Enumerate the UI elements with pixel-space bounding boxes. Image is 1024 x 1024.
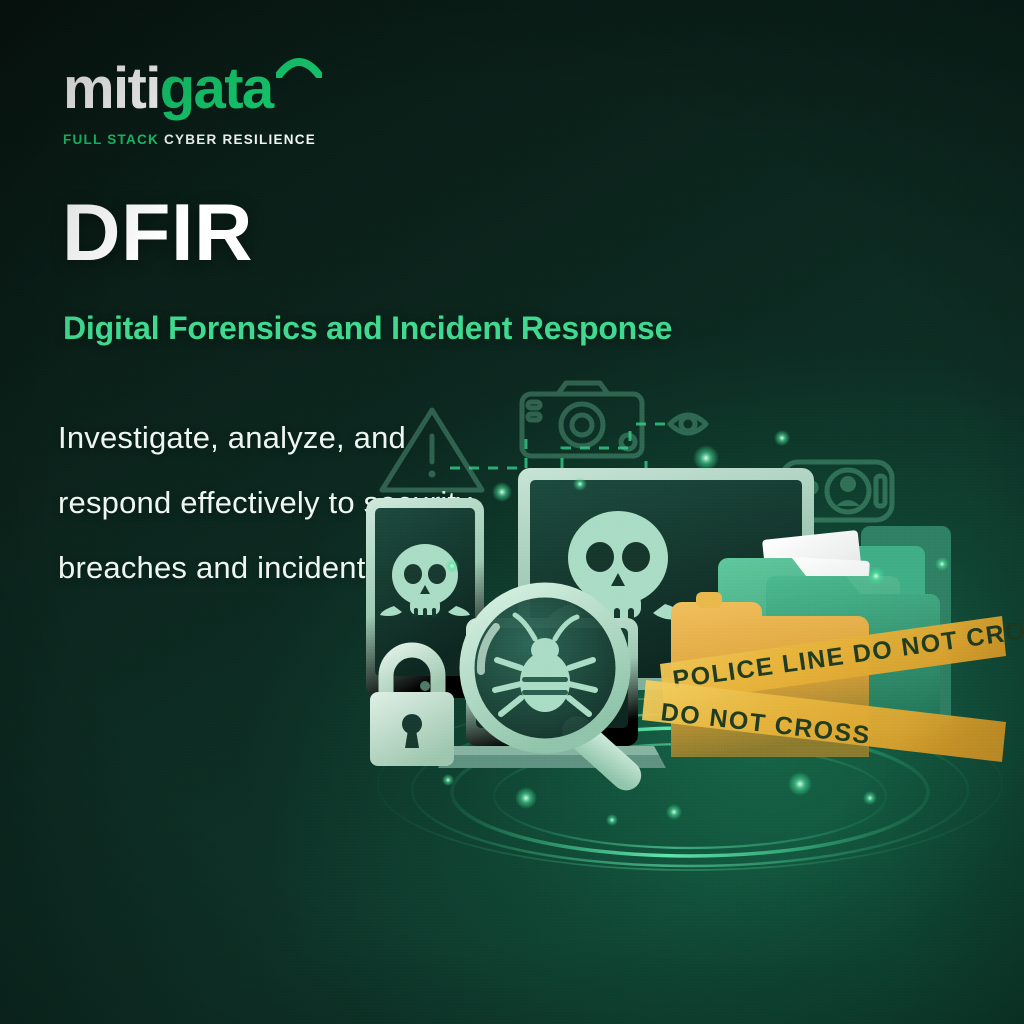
logo-arc-icon [276,52,322,78]
page-title: DFIR [62,193,253,274]
warning-triangle-icon [382,410,482,490]
logo-text-primary: miti [63,56,160,121]
brand-logo[interactable]: mitigata FULL STACK CYBER RESILIENCE [63,60,363,147]
camera-icon [522,383,642,456]
tagline-plain: CYBER RESILIENCE [164,132,316,147]
tagline-accent: FULL STACK [63,132,159,147]
illustration-digital-forensics: POLICE LINE DO NOT CROSS DO NOT CROSS [330,380,1024,900]
page-subtitle: Digital Forensics and Incident Response [63,310,672,347]
eye-icon [670,415,706,433]
logo-wordmark: mitigata [63,60,273,118]
poster-canvas: mitigata FULL STACK CYBER RESILIENCE DFI… [0,0,1024,1024]
logo-text-accent: gata [160,56,273,121]
logo-tagline: FULL STACK CYBER RESILIENCE [63,132,363,147]
